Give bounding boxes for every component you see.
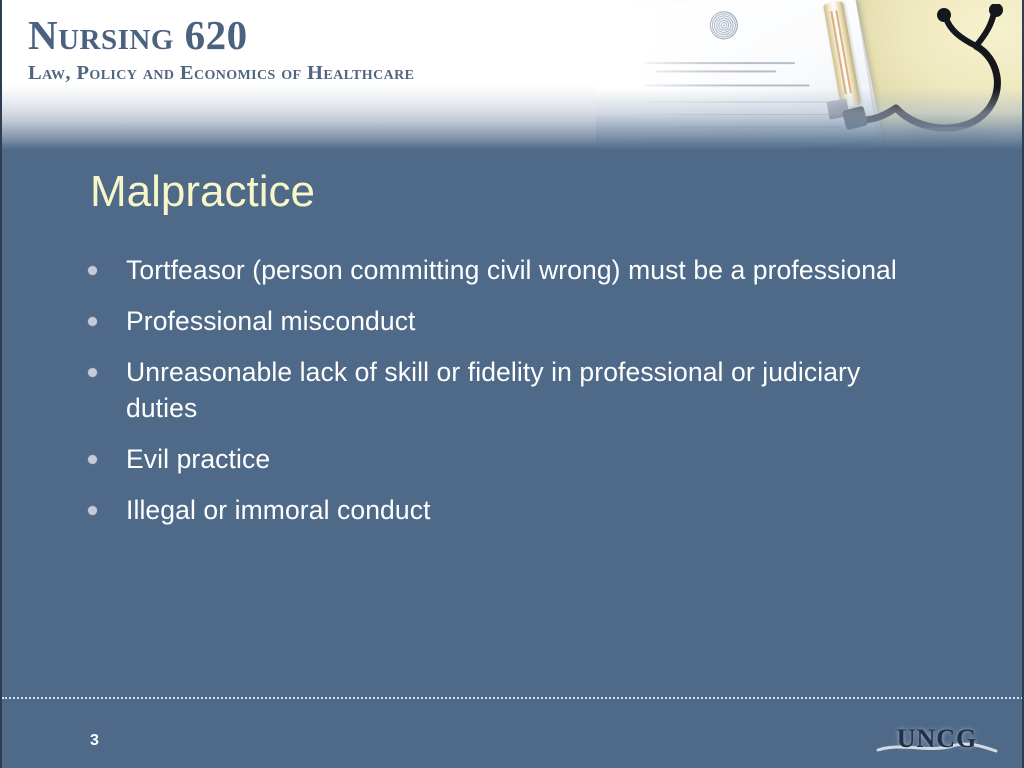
list-item: Tortfeasor (person committing civil wron… [88, 253, 918, 288]
bullet-dot-icon [88, 368, 97, 377]
course-subtitle: Law, Policy and Economics of Healthcare [28, 62, 414, 85]
slide-header-banner: Nursing 620 Law, Policy and Economics of… [2, 0, 1024, 150]
page-title: Malpractice [90, 168, 315, 216]
header-title-block: Nursing 620 Law, Policy and Economics of… [28, 14, 414, 85]
list-item-label: Illegal or immoral conduct [126, 493, 431, 528]
bullet-dot-icon [88, 506, 97, 515]
list-item: Unreasonable lack of skill or fidelity i… [88, 355, 918, 425]
bullet-dot-icon [88, 317, 97, 326]
presentation-slide: Nursing 620 Law, Policy and Economics of… [0, 0, 1024, 768]
header-photo [596, 0, 1024, 150]
list-item-label: Tortfeasor (person committing civil wron… [126, 253, 897, 288]
list-item-label: Unreasonable lack of skill or fidelity i… [126, 355, 918, 425]
bullet-dot-icon [88, 266, 97, 275]
page-number: 3 [90, 732, 99, 750]
list-item: Professional misconduct [88, 304, 918, 339]
course-title: Nursing 620 [28, 14, 414, 57]
list-item-label: Professional misconduct [126, 304, 416, 339]
footer-divider [2, 697, 1024, 699]
uncg-logo-text: UNCG [874, 724, 1000, 754]
photo-bottom-fade [596, 88, 1024, 150]
bullet-dot-icon [88, 455, 97, 464]
list-item: Illegal or immoral conduct [88, 493, 918, 528]
bullet-list: Tortfeasor (person committing civil wron… [88, 253, 918, 544]
list-item: Evil practice [88, 442, 918, 477]
list-item-label: Evil practice [126, 442, 270, 477]
uncg-logo: UNCG [874, 724, 1000, 760]
